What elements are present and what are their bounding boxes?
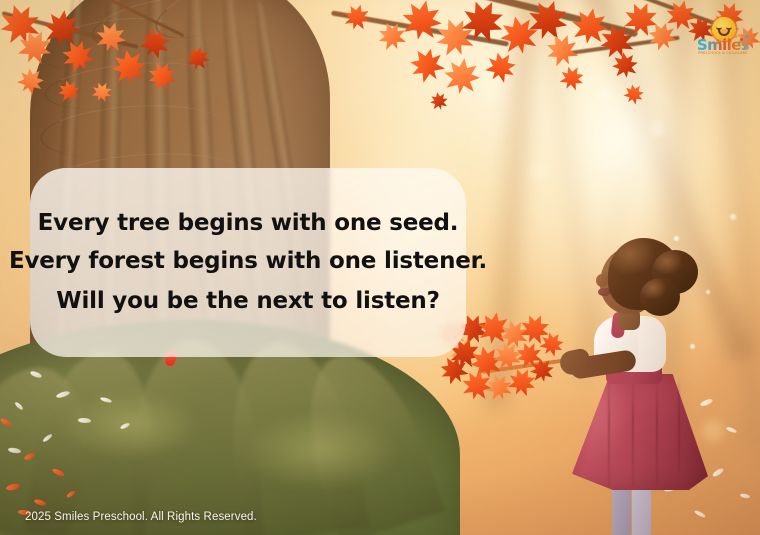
- girl-dress-skirt: [572, 374, 708, 490]
- girl-figure: [546, 226, 716, 535]
- promo-slide: Every tree begins with one seed. Every f…: [0, 0, 760, 535]
- girl-hair-bun-lower: [640, 278, 680, 316]
- quote-line-3: Will you be the next to listen?: [56, 289, 439, 314]
- smile-icon: [718, 29, 730, 36]
- logo-tagline: PRESCHOOL & CHILDCARE: [694, 51, 752, 55]
- footer-copyright: 2025 Smiles Preschool. All Rights Reserv…: [25, 511, 257, 523]
- quote-card: Every tree begins with one seed. Every f…: [30, 168, 466, 357]
- brand-logo[interactable]: Smiles PRESCHOOL & CHILDCARE: [694, 14, 752, 58]
- girl-nose: [596, 274, 608, 287]
- quote-line-1: Every tree begins with one seed.: [38, 211, 459, 236]
- quote-line-2: Every forest begins with one listener.: [9, 249, 487, 274]
- logo-wordmark: Smiles: [694, 38, 752, 52]
